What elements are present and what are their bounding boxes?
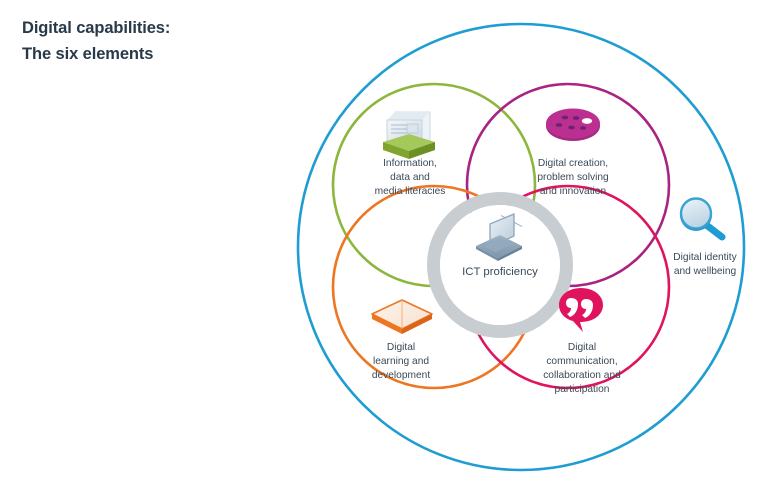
label-creation-line-2: problem solving [537, 172, 609, 183]
label-identity-line-1: Digital identity [673, 252, 737, 263]
label-communication: Digital communication, collaboration and… [543, 342, 621, 395]
label-identity: Digital identity and wellbeing [673, 252, 737, 277]
label-creation-line-3: and innovation [540, 186, 606, 197]
diagram-page: Digital capabilities:The six elements [0, 0, 768, 500]
label-communication-line-2: communication, [546, 356, 617, 367]
venn-diagram: Information, data and media literacies D… [0, 0, 768, 500]
label-information-line-2: data and [390, 172, 430, 183]
label-learning-line-1: Digital [387, 342, 415, 353]
label-information-line-3: media literacies [375, 186, 446, 197]
label-learning: Digital learning and development [372, 342, 431, 381]
label-learning-line-3: development [372, 370, 431, 381]
label-communication-line-4: participation [555, 384, 610, 395]
label-learning-line-2: learning and [373, 356, 429, 367]
label-information: Information, data and media literacies [375, 158, 446, 197]
label-communication-line-3: collaboration and [543, 370, 621, 381]
label-information-line-1: Information, [383, 158, 437, 169]
magnifying-glass-icon [680, 199, 722, 238]
speech-bubble-quote-icon [559, 288, 603, 332]
label-ict-proficiency: ICT proficiency [462, 266, 538, 278]
label-creation-line-1: Digital creation, [538, 158, 608, 169]
book-icon [372, 300, 432, 334]
label-creation: Digital creation, problem solving and in… [537, 158, 609, 197]
label-communication-line-1: Digital [568, 342, 596, 353]
paint-palette-icon [546, 109, 600, 142]
documents-tray-icon [383, 112, 435, 159]
label-identity-line-2: and wellbeing [674, 266, 737, 277]
